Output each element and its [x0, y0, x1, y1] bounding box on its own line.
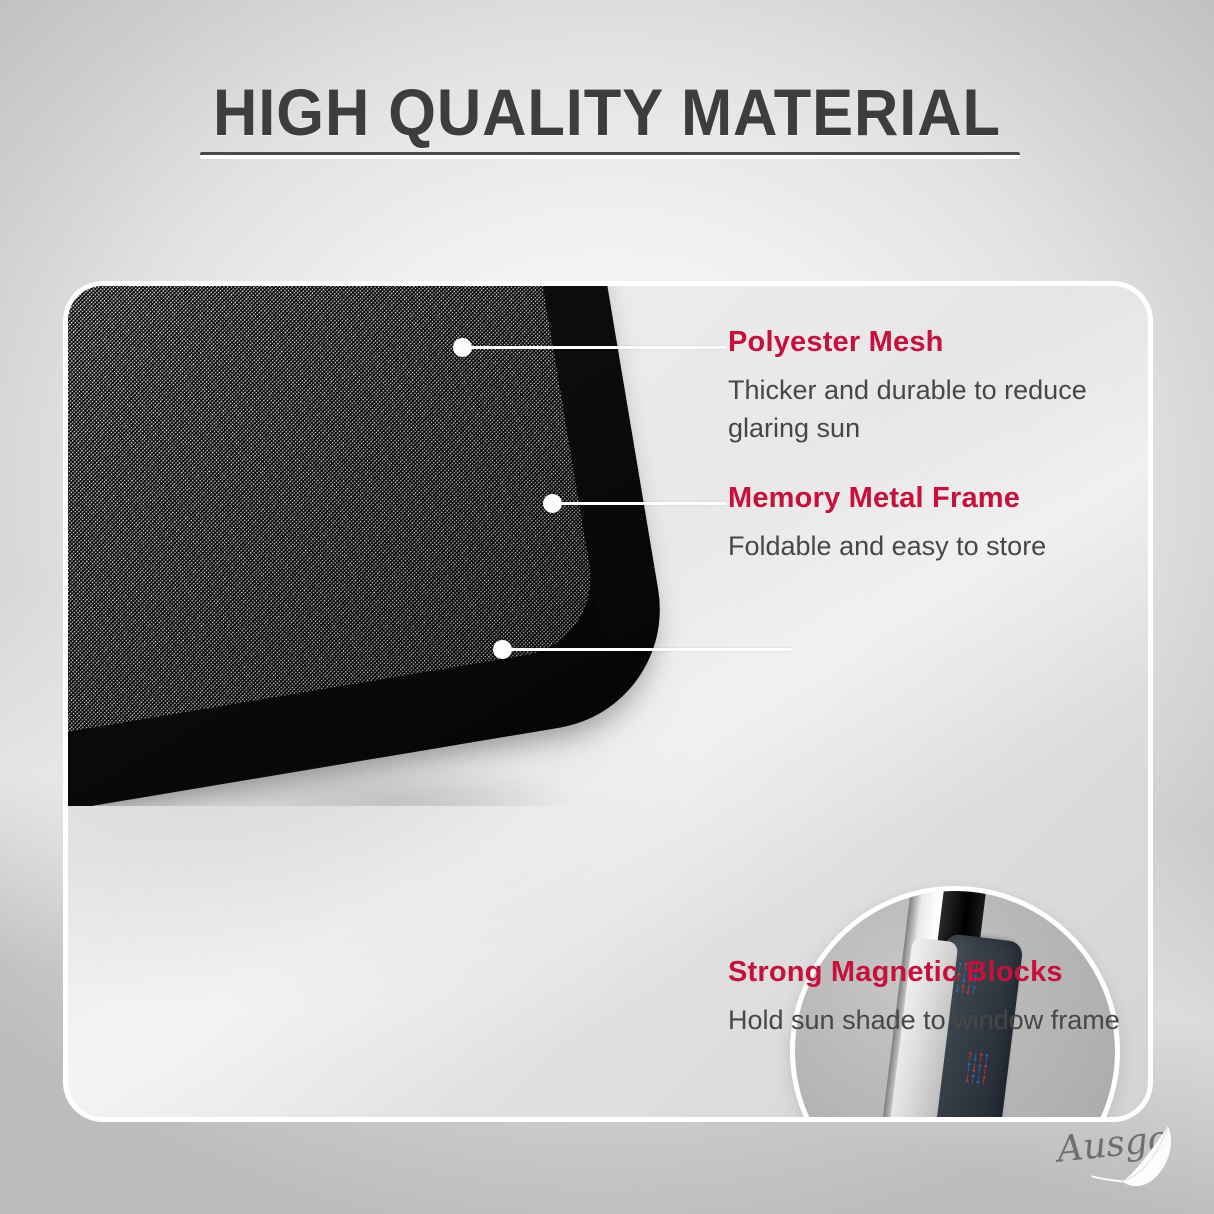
leader-line-magnetic-blocks [502, 648, 792, 651]
infographic-canvas: HIGH QUALITY MATERIAL AUSGO Polyester Me… [0, 0, 1214, 1214]
feature-body-memory-metal-frame: Foldable and easy to store [728, 527, 1138, 565]
feature-heading-memory-metal-frame: Memory Metal Frame [728, 482, 1138, 515]
feature-strong-magnetic-blocks: Strong Magnetic Blocks Hold sun shade to… [728, 956, 1128, 1039]
feature-heading-polyester-mesh: Polyester Mesh [728, 326, 1128, 359]
magnet-polarity-arrows-lower: ↑↓↑↑ ↑↓↑↑ ↓↑↓↑ [963, 1050, 989, 1085]
feature-polyester-mesh: Polyester Mesh Thicker and durable to re… [728, 326, 1128, 448]
brand-logo: Ausgo [1055, 1118, 1205, 1204]
feature-memory-metal-frame: Memory Metal Frame Foldable and easy to … [728, 482, 1138, 565]
page-title: HIGH QUALITY MATERIAL [42, 74, 1171, 150]
product-photo: AUSGO [68, 286, 693, 806]
feature-heading-strong-magnetic-blocks: Strong Magnetic Blocks [728, 956, 1128, 989]
leader-line-memory-metal-frame [552, 502, 727, 505]
feature-body-polyester-mesh: Thicker and durable to reduce glaring su… [728, 371, 1128, 448]
title-underline-rule [200, 152, 1020, 159]
page-title-container: HIGH QUALITY MATERIAL [0, 74, 1214, 150]
leader-line-polyester-mesh [462, 346, 727, 349]
feather-icon [1055, 1118, 1205, 1204]
content-card: AUSGO Polyester Mesh Thicker and durable… [63, 281, 1153, 1122]
product-drop-shadow [188, 756, 693, 806]
feature-body-strong-magnetic-blocks: Hold sun shade to window frame [728, 1001, 1128, 1039]
